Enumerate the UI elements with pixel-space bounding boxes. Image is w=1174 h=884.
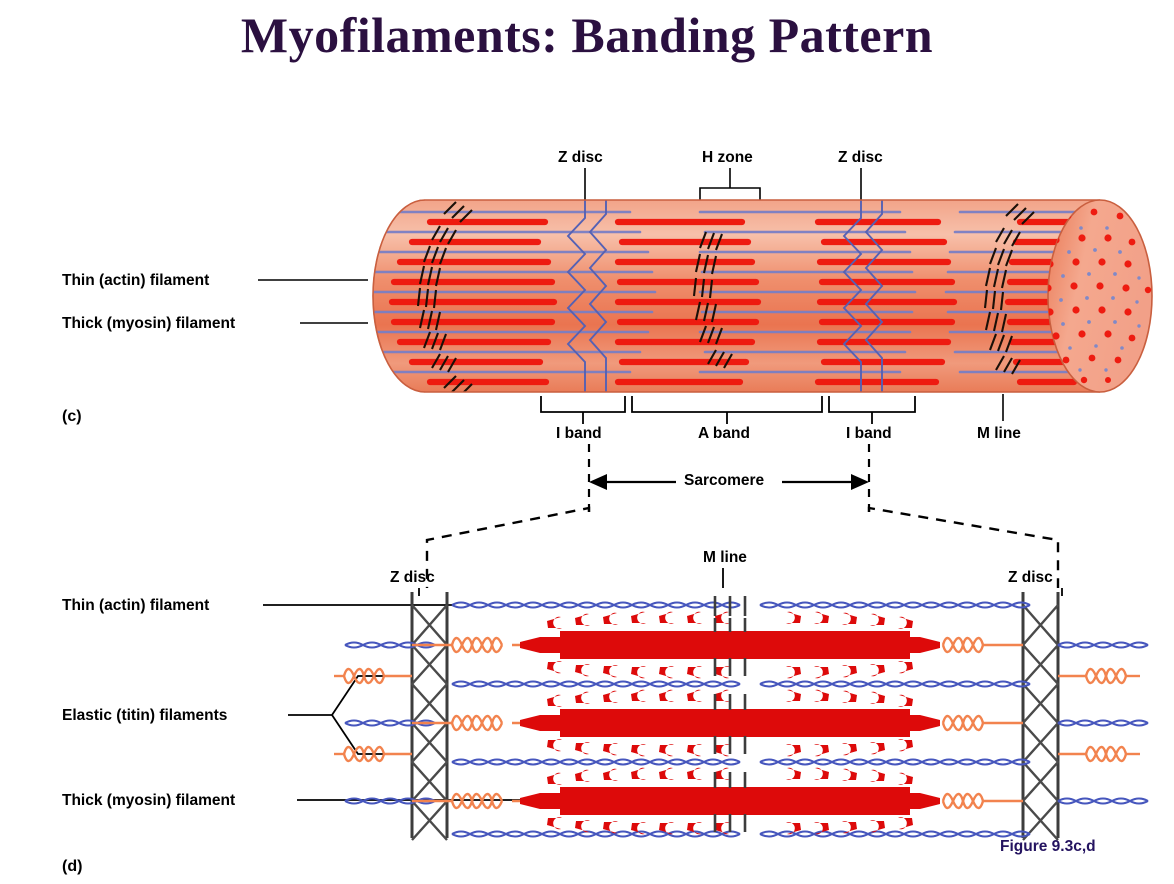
myofibril-cylinder (346, 196, 1152, 398)
band-brackets (541, 396, 915, 424)
myosin-filaments-d (520, 612, 940, 835)
slide-canvas: Myofilaments: Banding Pattern Z disc H z… (0, 0, 1174, 884)
myofibril-cross-section (1048, 200, 1152, 392)
actin-row (452, 760, 1030, 765)
diagram-graphics (0, 0, 1174, 884)
arrow-left (589, 474, 607, 490)
sarcomere-schematic (334, 592, 1148, 840)
sarcomere-measure (589, 444, 869, 512)
arrow-right (851, 474, 869, 490)
actin-row (452, 832, 1030, 837)
actin-row (452, 603, 1030, 608)
z-disc-right-structure (1023, 592, 1058, 840)
panel-connectors (427, 508, 1058, 588)
bracket-i-band-left (541, 396, 625, 412)
actin-row (452, 682, 1030, 687)
bracket-a-band (632, 396, 822, 412)
bracket-i-band-right (829, 396, 915, 412)
